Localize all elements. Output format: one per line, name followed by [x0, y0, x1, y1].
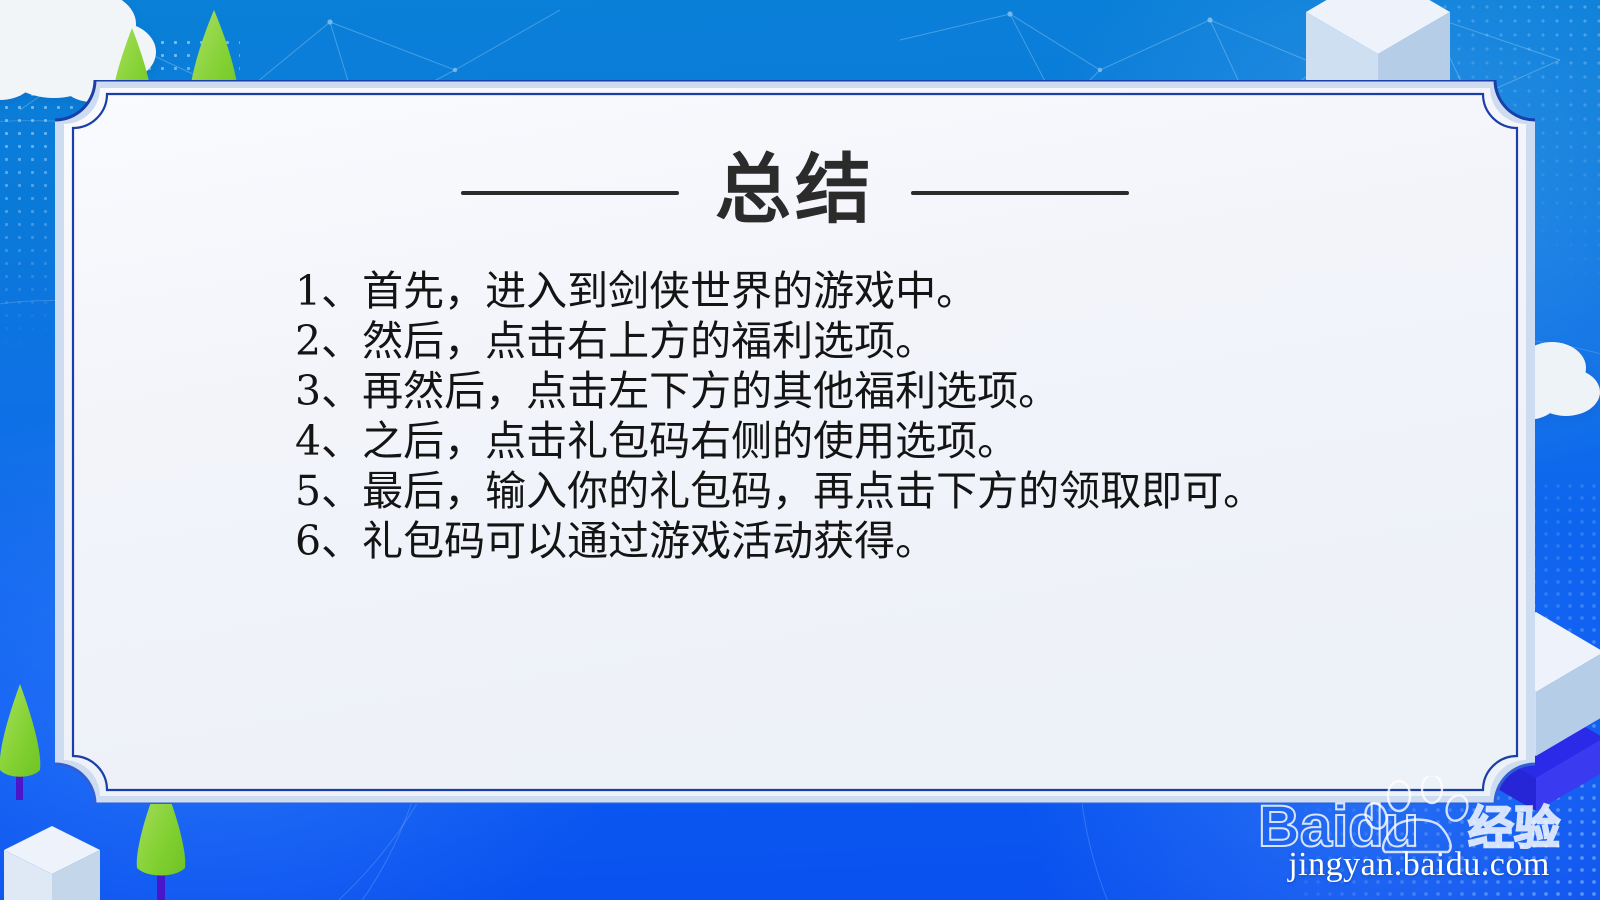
- step-item-1: 1、首先，进入到剑侠世界的游戏中。: [295, 266, 1425, 316]
- page-title: 总结: [715, 152, 875, 234]
- step-item-3: 3、再然后，点击左下方的其他福利选项。: [295, 366, 1425, 416]
- step-item-6: 6、礼包码可以通过游戏活动获得。: [295, 516, 1425, 566]
- step-item-4: 4、之后，点击礼包码右侧的使用选项。: [295, 416, 1425, 466]
- title-rule-right: [911, 191, 1129, 195]
- content-card: 总结 1、首先，进入到剑侠世界的游戏中。 2、然后，点击右上方的福利选项。 3、…: [55, 80, 1535, 804]
- steps-list: 1、首先，进入到剑侠世界的游戏中。 2、然后，点击右上方的福利选项。 3、再然后…: [295, 266, 1425, 566]
- step-item-5: 5、最后，输入你的礼包码，再点击下方的领取即可。: [295, 466, 1425, 516]
- slide-canvas: 总结 1、首先，进入到剑侠世界的游戏中。 2、然后，点击右上方的福利选项。 3、…: [0, 0, 1600, 900]
- step-item-2: 2、然后，点击右上方的福利选项。: [295, 316, 1425, 366]
- title-rule-left: [461, 191, 679, 195]
- tree-bottom-left-1: [0, 680, 52, 800]
- cube-bottom-left: [0, 820, 110, 900]
- title-row: 总结: [55, 152, 1535, 234]
